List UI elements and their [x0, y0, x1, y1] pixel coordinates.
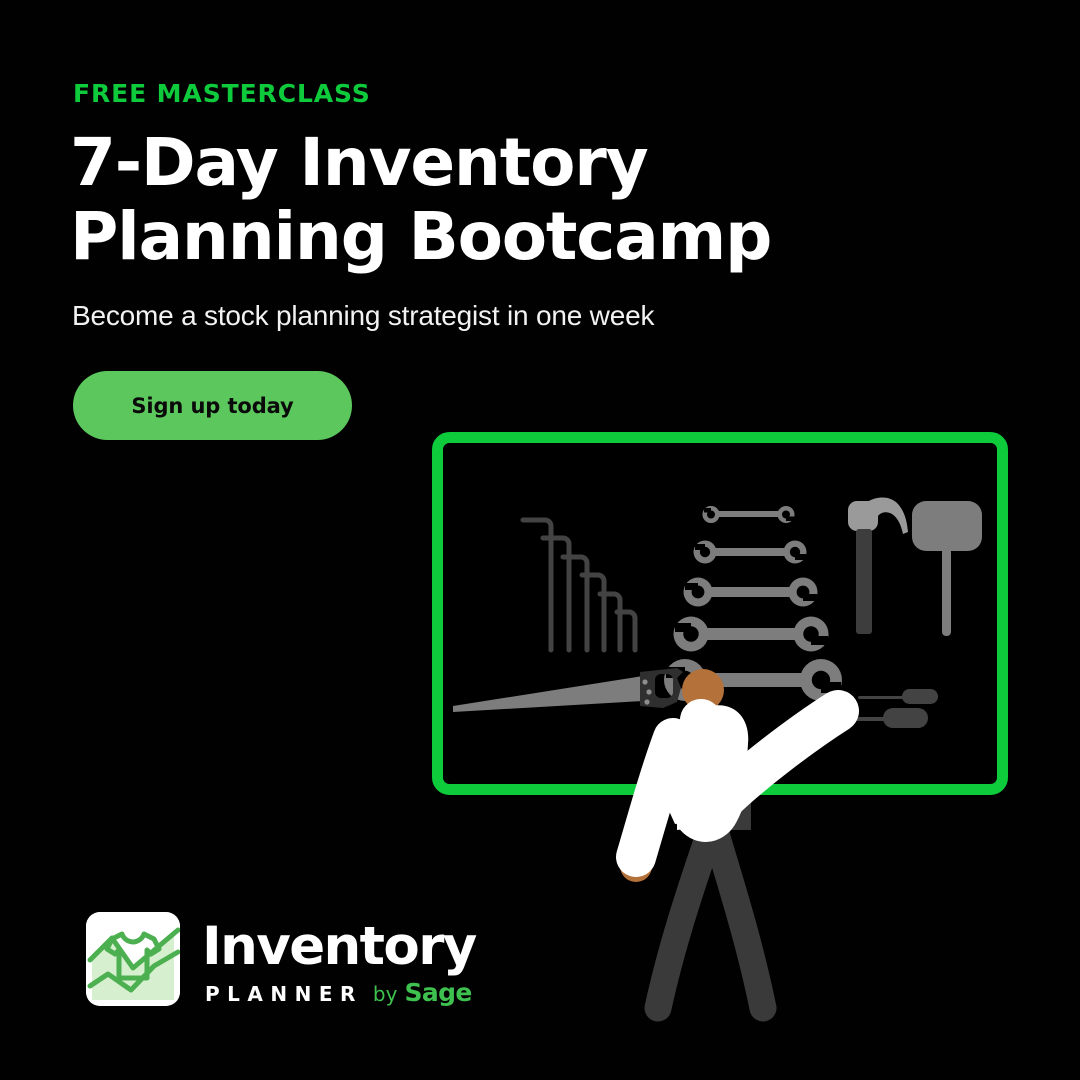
inventory-planner-mark-icon	[86, 912, 180, 1006]
headline-line-2: Planning Bootcamp	[70, 200, 790, 274]
promo-graphic: FREE MASTERCLASS 7-Day Inventory Plannin…	[0, 0, 1080, 1080]
headline-line-1: 7-Day Inventory	[70, 126, 790, 200]
logo-planner-label: PLANNER	[205, 982, 363, 1006]
logo-wordmark: Inventory	[202, 920, 476, 974]
logo-mark-svg	[86, 912, 180, 1006]
leg-right	[713, 823, 763, 1008]
logo-sage-label: Sage	[404, 978, 471, 1007]
sign-up-button[interactable]: Sign up today	[73, 371, 352, 440]
brand-logo[interactable]: Inventory PLANNER by Sage	[86, 912, 476, 1007]
saw-rivet-1	[642, 679, 647, 684]
subheadline: Become a stock planning strategist in on…	[72, 300, 654, 332]
page-title: 7-Day Inventory Planning Bootcamp	[70, 126, 790, 274]
illustration-svg	[415, 420, 1025, 1040]
logo-by-label: by	[373, 982, 398, 1006]
saw-rivet-2	[646, 689, 651, 694]
saw-rivet-3	[644, 699, 649, 704]
leg-left	[658, 823, 713, 1008]
logo-subline: PLANNER by Sage	[205, 978, 476, 1007]
mallet-handle	[942, 548, 951, 636]
mallet-head	[912, 501, 982, 551]
worker-legs	[658, 823, 763, 1008]
eyebrow-label: FREE MASTERCLASS	[73, 79, 371, 108]
hammer-handle	[856, 529, 872, 634]
logo-text-block: Inventory PLANNER by Sage	[202, 912, 476, 1007]
tool-wall-illustration	[415, 420, 1025, 1040]
